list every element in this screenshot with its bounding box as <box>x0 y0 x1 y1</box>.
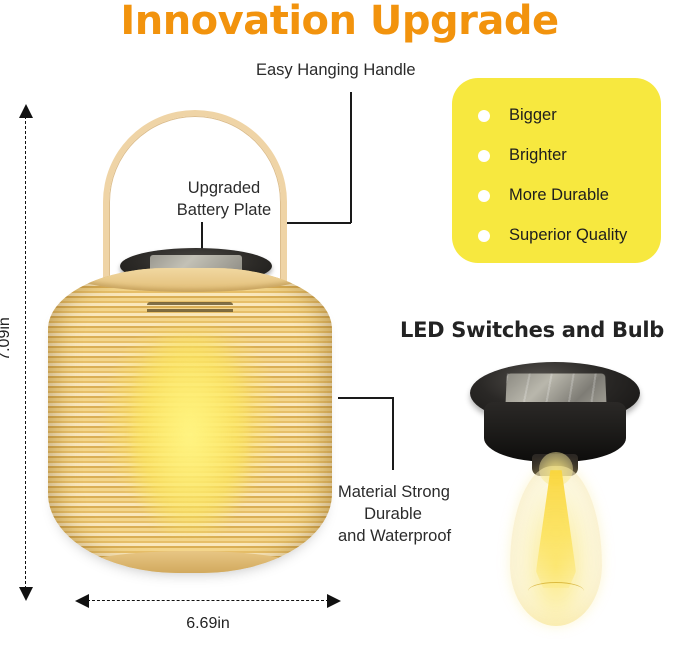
bullet-dot-icon <box>478 150 490 162</box>
feature-item-1[interactable]: Brighter <box>478 146 567 165</box>
annotation-hanging-handle: Easy Hanging Handle <box>256 60 416 82</box>
bullet-dot-icon <box>478 230 490 242</box>
lantern-basket-top <box>72 268 308 292</box>
feature-item-label: Brighter <box>509 146 567 165</box>
annotation-material-line2: Durable <box>338 504 448 526</box>
leader-hanging-handle-vertical <box>350 92 352 223</box>
dimension-height-label: 7.09in <box>0 317 14 361</box>
lantern-product-image <box>40 108 340 578</box>
annotation-material: Material Strong Durable and Waterproof <box>338 482 448 547</box>
arrow-left-icon <box>75 594 89 608</box>
led-bulb-filament <box>536 470 576 588</box>
feature-item-label: Bigger <box>509 106 557 125</box>
feature-item-label: More Durable <box>509 186 609 205</box>
arrow-right-icon <box>327 594 341 608</box>
leader-material-horizontal <box>338 397 394 399</box>
bullet-dot-icon <box>478 190 490 202</box>
dimension-width-line <box>87 600 329 601</box>
annotation-material-line3: and Waterproof <box>338 526 448 548</box>
infographic-canvas: Innovation Upgrade Easy Hanging Handle U… <box>0 0 679 650</box>
lantern-inner-glow <box>130 335 249 536</box>
arrow-up-icon <box>19 104 33 118</box>
led-section-heading: LED Switches and Bulb <box>400 318 664 342</box>
lantern-vent-slots <box>147 302 233 316</box>
dimension-width-label: 6.69in <box>75 615 341 633</box>
annotation-material-line1: Material Strong <box>338 482 448 504</box>
led-bulb-filament-rods <box>528 582 584 600</box>
lantern-basket-bottom <box>82 551 298 573</box>
feature-card: Bigger Brighter More Durable Superior Qu… <box>452 78 661 263</box>
feature-item-2[interactable]: More Durable <box>478 186 609 205</box>
leader-material-vertical <box>392 397 394 470</box>
page-title: Innovation Upgrade <box>0 0 679 44</box>
led-bulb-glass <box>510 466 602 626</box>
dimension-width-arrow <box>75 600 341 602</box>
feature-item-0[interactable]: Bigger <box>478 106 557 125</box>
dimension-height-arrow <box>25 104 27 601</box>
arrow-down-icon <box>19 587 33 601</box>
lantern-rattan-basket <box>48 268 332 573</box>
dimension-height-line <box>25 116 26 589</box>
feature-item-label: Superior Quality <box>509 226 627 245</box>
led-bulb-unit-image <box>470 362 640 642</box>
feature-item-3[interactable]: Superior Quality <box>478 226 627 245</box>
bullet-dot-icon <box>478 110 490 122</box>
